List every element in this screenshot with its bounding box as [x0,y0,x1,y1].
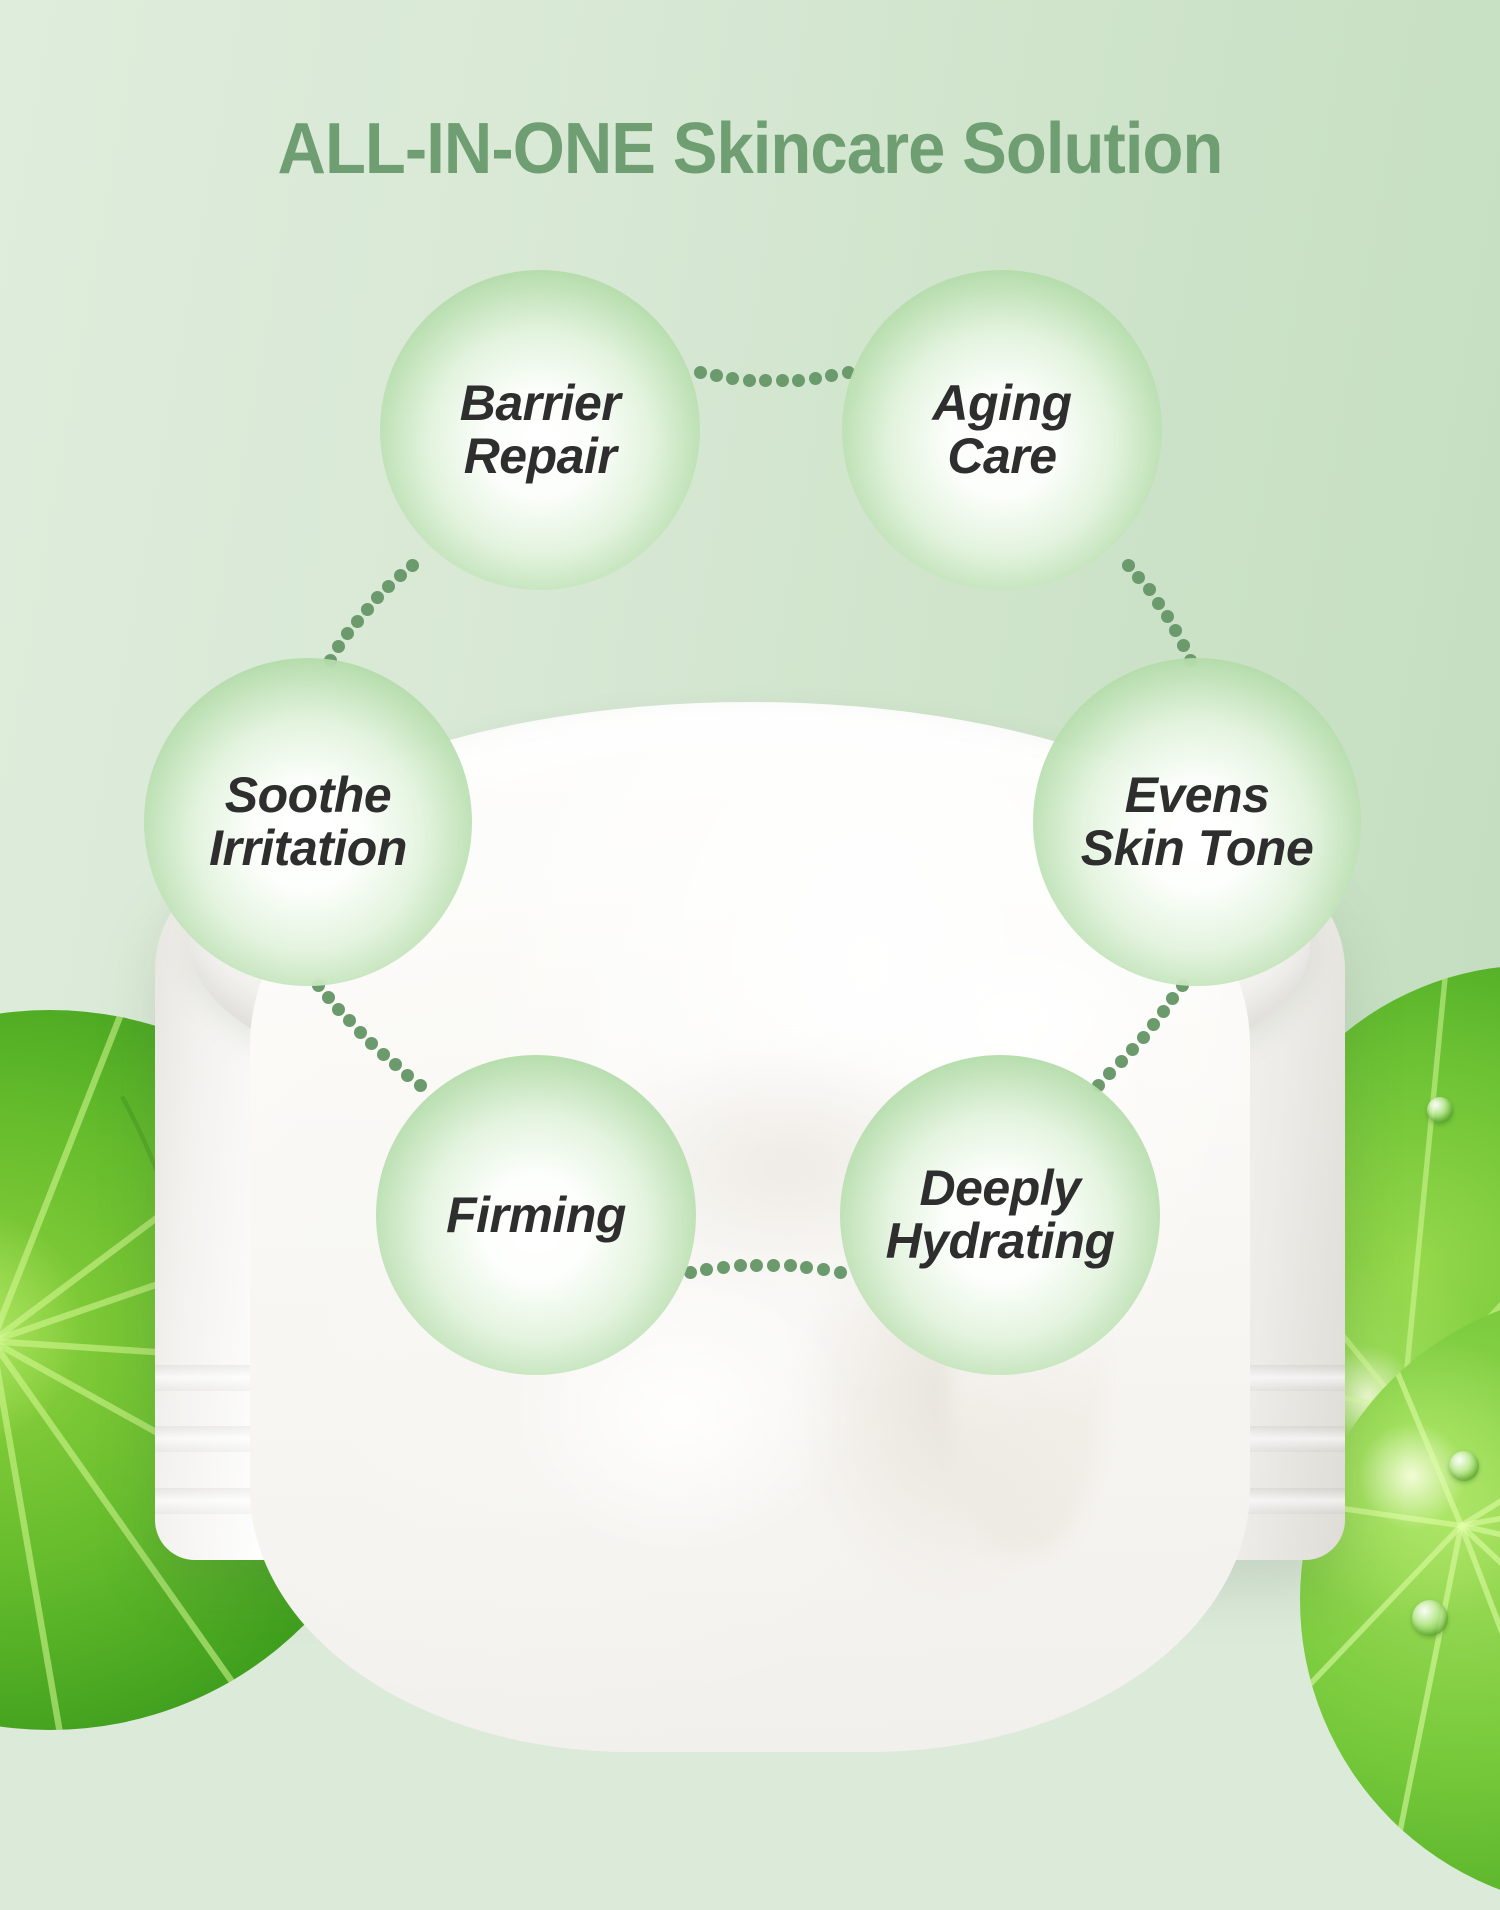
connector-dot [759,374,772,387]
connector-dot [351,615,364,628]
page-title: ALL-IN-ONE Skincare Solution [53,108,1448,190]
connector-dot [700,1263,713,1276]
connector-dot [361,603,374,616]
connector-dot [1137,1031,1150,1044]
connector-dot [332,1003,345,1016]
connector-dot [1152,597,1165,610]
connector-dot [743,374,756,387]
connector-dot [776,374,789,387]
benefit-label: Firming [446,1189,626,1242]
connector-dot [1132,571,1145,584]
connector-dot [767,1259,780,1272]
connector-dot [1161,610,1174,623]
connector-dot [1177,639,1190,652]
connector-dot [394,569,407,582]
benefit-bubble-evens-skin-tone[interactable]: Evens Skin Tone [1033,658,1361,986]
connector-dot [834,1266,847,1279]
connector-dot [1103,1067,1116,1080]
benefit-bubble-barrier-repair[interactable]: Barrier Repair [380,270,700,590]
connector-dot [371,591,384,604]
connector-dot [332,640,345,653]
connector-dot [343,1014,356,1027]
connector-dot [1169,624,1182,637]
connector-dot [382,580,395,593]
connector-dot [1115,1055,1128,1068]
connector-dot [377,1048,390,1061]
benefit-bubble-deeply-hydrating[interactable]: Deeply Hydrating [840,1055,1160,1375]
connector-dot [792,374,805,387]
connector-dot [800,1261,813,1274]
connector-dot [734,1259,747,1272]
connector-dot [341,627,354,640]
connector-dot [717,1261,730,1274]
connector-dot [401,1069,414,1082]
benefit-bubble-aging-care[interactable]: Aging Care [842,270,1162,590]
connector-dot [414,1079,427,1092]
benefit-bubble-firming[interactable]: Firming [376,1055,696,1375]
connector-dot [1166,992,1179,1005]
benefit-label: Aging Care [932,377,1071,483]
connector-dot [406,559,419,572]
benefit-label: Soothe Irritation [209,769,407,875]
connector-dot [750,1259,763,1272]
connector-dot [710,369,723,382]
connector-dot [784,1259,797,1272]
benefit-label: Barrier Repair [460,377,621,483]
connector-dot [694,366,707,379]
connector-dot [1143,583,1156,596]
connector-dot [1122,559,1135,572]
connector-dot [389,1058,402,1071]
connector-dot [322,991,335,1004]
connector-dot [809,372,822,385]
connector-dot [825,369,838,382]
benefit-bubble-soothe-irritation[interactable]: Soothe Irritation [144,658,472,986]
benefit-label: Evens Skin Tone [1081,769,1314,875]
connector-dot [365,1037,378,1050]
benefit-label: Deeply Hydrating [886,1162,1115,1268]
connector-dot [1126,1043,1139,1056]
connector-dot [1147,1018,1160,1031]
connector-dot [354,1026,367,1039]
connector-dot [817,1263,830,1276]
connector-dot [1157,1005,1170,1018]
water-droplet [1412,1600,1448,1636]
infographic-canvas: ALL-IN-ONE Skincare Solution Barrier Rep… [0,0,1500,1500]
connector-dot [726,372,739,385]
